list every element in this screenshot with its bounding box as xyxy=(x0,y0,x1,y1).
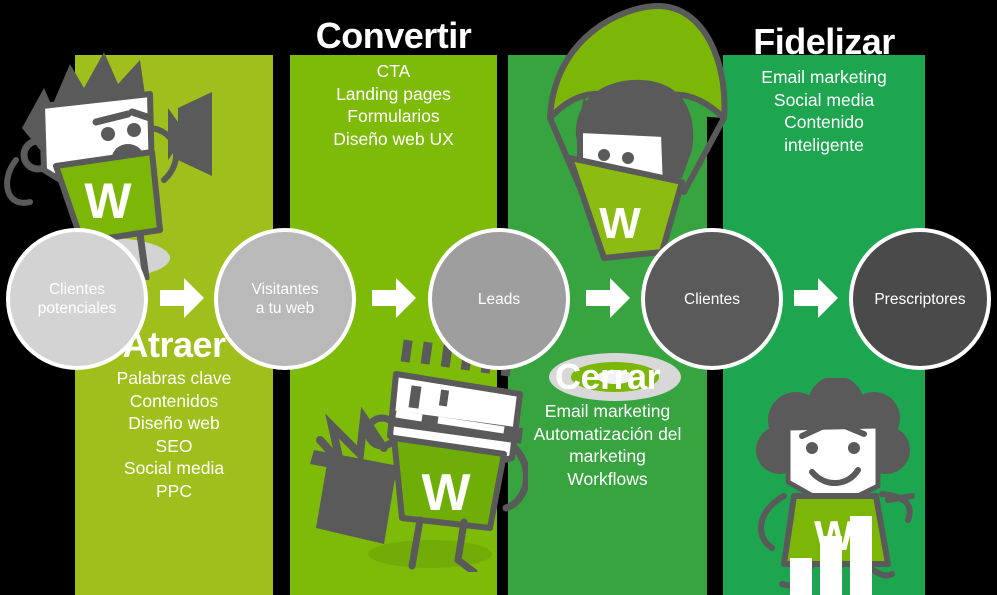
stage-item: Diseño web UX xyxy=(290,128,497,151)
stage-item: Social media xyxy=(723,89,925,112)
funnel-node-label: Clientes xyxy=(684,290,740,309)
mascot-logo-w: W xyxy=(421,464,471,522)
stage-item: Palabras clave xyxy=(75,367,273,390)
funnel-node-label-2: potenciales xyxy=(38,299,116,318)
funnel-node-label: Leads xyxy=(478,290,520,309)
stage-item: SEO xyxy=(75,435,273,458)
funnel-node-label: Clientes xyxy=(38,280,116,299)
stage-heading-convertir: Convertir xyxy=(290,16,497,56)
funnel-node-leads[interactable]: Leads xyxy=(428,228,570,370)
stage-heading-cerrar: Cerrar xyxy=(508,357,707,397)
funnel-node-label-2: a tu web xyxy=(252,299,319,318)
funnel-node-prescriptores[interactable]: Prescriptores xyxy=(849,228,991,370)
arrow-right-icon-3 xyxy=(586,278,630,318)
stage-item: Automatización del xyxy=(508,423,707,446)
funnel-node-clientes-potenciales[interactable]: Clientes potenciales xyxy=(6,228,148,370)
stage-item: inteligente xyxy=(723,134,925,157)
funnel-node-label: Prescriptores xyxy=(874,290,965,309)
funnel-node-label: Visitantes xyxy=(252,280,319,299)
stage-item: Contenidos xyxy=(75,390,273,413)
mascot-shadow xyxy=(368,540,492,568)
funnel-node-clientes[interactable]: Clientes xyxy=(641,228,783,370)
stage-items-convertir: CTA Landing pages Formularios Diseño web… xyxy=(290,60,497,150)
mascot-logo-w: W xyxy=(84,173,132,229)
stage-item: Contenido xyxy=(723,111,925,134)
stage-item: Email marketing xyxy=(508,400,707,423)
stage-item: Diseño web xyxy=(75,412,273,435)
arrow-right-icon-1 xyxy=(160,278,204,318)
stage-item: CTA xyxy=(290,60,497,83)
chart-mascot: W xyxy=(736,378,936,595)
infographic-canvas: W W xyxy=(0,0,997,595)
stage-item: Formularios xyxy=(290,105,497,128)
stage-items-cerrar: Email marketing Automatización del marke… xyxy=(508,400,707,490)
stage-item: Workflows xyxy=(508,468,707,491)
arrow-right-icon-4 xyxy=(794,278,838,318)
stage-item: Social media xyxy=(75,457,273,480)
funnel-node-visitantes[interactable]: Visitantes a tu web xyxy=(214,228,356,370)
stage-heading-fidelizar: Fidelizar xyxy=(723,22,925,62)
stage-items-fidelizar: Email marketing Social media Contenido i… xyxy=(723,66,925,156)
arrow-right-icon-2 xyxy=(372,278,416,318)
stage-item: Landing pages xyxy=(290,83,497,106)
mascot-logo-w: W xyxy=(599,199,641,248)
stage-item: PPC xyxy=(75,480,273,503)
stage-item: Email marketing xyxy=(723,66,925,89)
stage-item: marketing xyxy=(508,445,707,468)
stage-items-atraer: Palabras clave Contenidos Diseño web SEO… xyxy=(75,367,273,502)
